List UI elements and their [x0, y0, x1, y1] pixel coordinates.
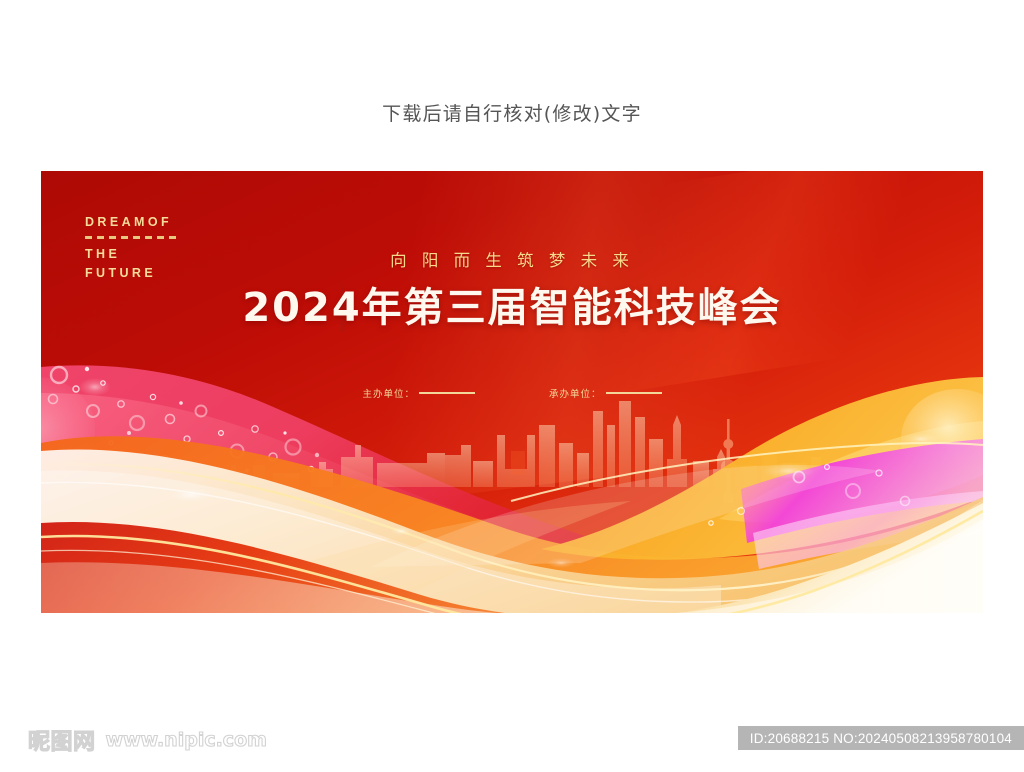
organizer-host-label: 主办单位：	[362, 386, 415, 400]
organizer-host: 主办单位：	[362, 386, 475, 400]
poster-canvas: DREAMOF THE FUTURE 向 阳 而 生 筑 梦 未 来 2024年…	[41, 171, 983, 613]
download-notice: 下载后请自行核对(修改)文字	[0, 99, 1024, 126]
poster-subtitle: 向 阳 而 生 筑 梦 未 来	[41, 247, 983, 271]
organizer-row: 主办单位： 承办单位：	[41, 386, 983, 400]
organizer-host-rule	[419, 392, 475, 394]
organizer-coorg-rule	[606, 392, 662, 394]
poster-title: 2024年第三届智能科技峰会	[41, 275, 983, 333]
watermark-site: www.nipic.com	[106, 729, 267, 751]
asset-id-bar: ID:20688215 NO:20240508213958780104	[738, 726, 1024, 750]
organizer-coorg: 承办单位：	[549, 386, 662, 400]
logo-divider	[85, 236, 177, 239]
watermark-brand: 昵图网	[28, 724, 96, 756]
logo-line-1: DREAMOF	[85, 216, 235, 229]
organizer-coorg-label: 承办单位：	[549, 386, 602, 400]
site-watermark: 昵图网 www.nipic.com	[28, 724, 267, 756]
asset-id-text: ID:20688215 NO:20240508213958780104	[750, 731, 1012, 746]
